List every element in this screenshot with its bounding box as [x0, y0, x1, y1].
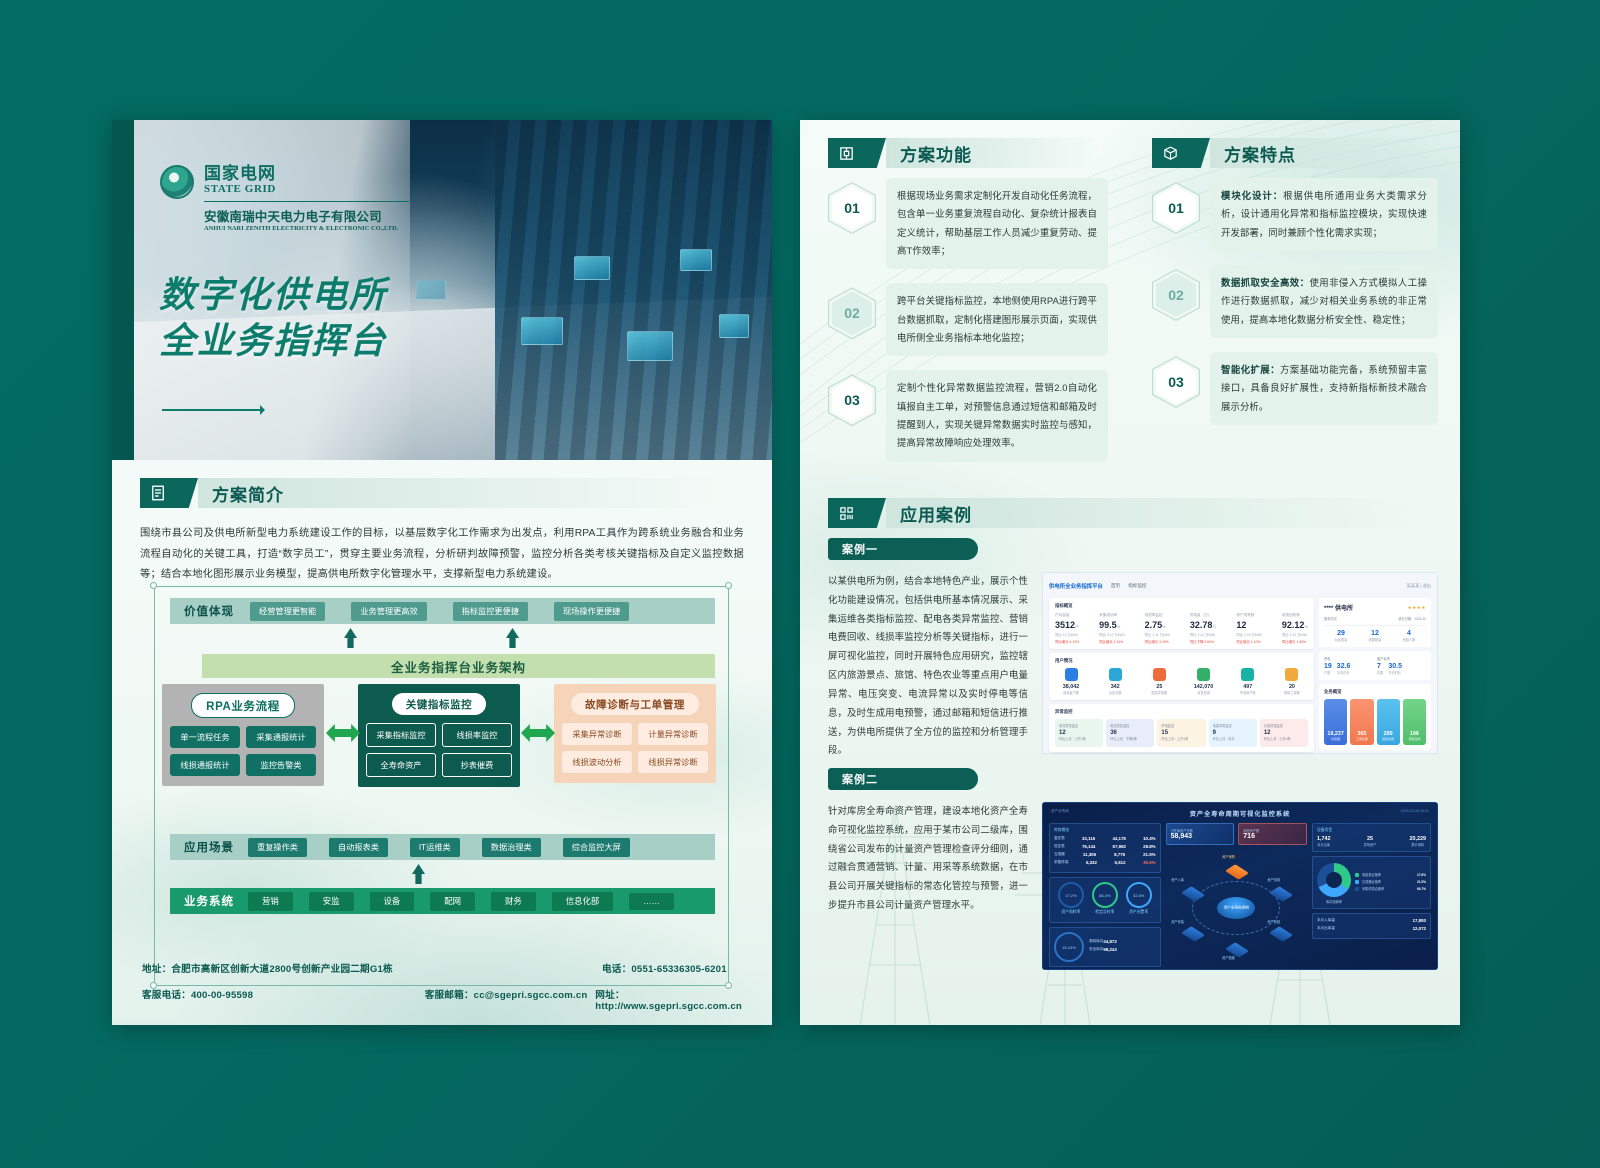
kpi-label: 户均容量: [1055, 613, 1079, 618]
dashboard-nav-item[interactable]: 首页: [1111, 583, 1120, 589]
kpi-rate: 同比增长 1.10%: [1236, 640, 1260, 644]
architecture-column-rpa: RPA业务流程 单一流程任务 采集通报统计 线损通报统计 监控告警类: [162, 684, 324, 786]
station-metric-label: 线路数量: [1369, 637, 1382, 642]
feature-item: 03 智能化扩展：方案基础功能完备，系统预留丰富接口，具备良好扩展性，支持新指标…: [1152, 352, 1438, 425]
anomaly-note: 环比上月 · 上升4条: [1264, 736, 1304, 741]
scenario-chip: 自动报表类: [329, 838, 388, 857]
case-two-screenshot: 资产全寿命 2023-10-18 09:21 资产全寿命周期可视化监控系统 库房…: [1042, 802, 1438, 970]
counter-label: 配变异常数: [1143, 690, 1175, 695]
row-b: 8,776: [1114, 852, 1125, 857]
kpi-card-title: 指标概览: [1055, 603, 1308, 609]
legend-name: 电能表合格率: [1362, 872, 1381, 877]
energy-icon: [1197, 668, 1210, 681]
kpi-cell: 采集成功率 99.5% 同比 3.12 万kWh 同比增长 2.10%: [1099, 613, 1124, 644]
row-a: 32,115: [1082, 836, 1095, 841]
donut-label: 库存准确率: [1317, 899, 1351, 904]
column-cell: 线损波动分析: [562, 751, 632, 773]
alert-icon: [1153, 668, 1166, 681]
kpi-sub: 同比 3.12 万kWh: [1099, 632, 1124, 637]
inout-value: 12,072: [1413, 926, 1426, 931]
function-text: 跨平台关键指标监控，本地侧使用RPA进行跨平台数据抓取，定制化搭建图形展示页面，…: [886, 283, 1108, 356]
page-back: 方案功能 方案特点 01 根据现: [800, 120, 1460, 1025]
footer-row-2: 客服电话：400-00-95598 客服邮箱：cc@sgepri.sgcc.co…: [142, 987, 742, 1012]
overview-bar: 19,237抄表数: [1324, 699, 1347, 745]
architecture-column-fault: 故障诊断与工单管理 采集异常诊断 计量异常诊断 线损波动分析 线损异常诊断: [554, 684, 716, 783]
inout-name: 本月出库量: [1317, 926, 1335, 931]
ticket-icon: [1285, 668, 1298, 681]
intro-section-header: 方案简介: [140, 478, 744, 508]
column-cell: 线损率监控: [442, 723, 512, 747]
address-line: 地址：合肥市高新区创新大道2800号创新产业园二期G1栋: [142, 961, 427, 975]
scenario-chip: 数据治理类: [482, 838, 541, 857]
row-c: 35.6%: [1143, 860, 1155, 865]
architecture-title: 全业务指挥台业务架构: [202, 654, 715, 678]
brand-subsidiary-cn: 安徽南瑞中天电力电子有限公司: [204, 206, 409, 225]
outage-label: 户数: [1324, 670, 1332, 675]
features-list: 01 模块化设计：根据供电所通用业务大类需求分析，设计通用化异常和指标监控模块，…: [1152, 178, 1438, 439]
dashboard-nav-item[interactable]: 指标监控: [1128, 583, 1146, 589]
kpi-cell: 线损率监控 2.75% 同比 2.11 万kWh 同比增长 3.40%: [1145, 613, 1170, 644]
brand-lockup: 国家电网 STATE GRID 安徽南瑞中天电力电子有限公司 ANHUI NAR…: [160, 165, 409, 232]
gauge-label: 资产闲置率: [1126, 910, 1152, 915]
case-two-text: 针对库房全寿命资产管理，建设本地化资产全寿命可视化监控系统，应用于某市公司二级库…: [828, 802, 1028, 970]
inout-panel: 本月入库量17,893 本月出库量12,072: [1312, 913, 1431, 939]
website-line: 网址：http://www.sgepri.sgcc.com.cn: [595, 987, 742, 1012]
row-b: 44,178: [1112, 836, 1125, 841]
center-kpi-value: 716: [1243, 833, 1302, 840]
column-cell: 单一流程任务: [170, 726, 240, 748]
counter-label: 用电客户数: [1055, 690, 1087, 695]
dashboard-supply-station: 供电所全业务指挥平台 首页 指标监控 某某某 | 退出 指标概览: [1042, 572, 1438, 754]
inout-value: 17,893: [1413, 918, 1426, 923]
case-two: 案例二 针对库房全寿命资产管理，建设本地化资产全寿命可视化监控系统，应用于某市公…: [828, 768, 1438, 970]
device-type-panel: 设备类型 1,742本月出库 25异常资产 20,229累计周转: [1312, 823, 1431, 852]
lifecycle-node-label: 资产采购: [1222, 854, 1235, 859]
dashboard2-left-column: 库房概览 高压表32,11544,17810.4% 低压表76,14467,96…: [1049, 823, 1161, 969]
anomaly-note: 环比上月 · 上升2条: [1059, 736, 1099, 741]
function-text: 定制个性化异常数据监控流程，营销2.0自动化填报自主工单，对预警信息通过短信和邮…: [886, 370, 1108, 461]
service-value: 400-00-95598: [191, 990, 253, 1001]
station-metric-value: 4: [1403, 630, 1416, 637]
site-label: 网址：: [595, 990, 624, 1001]
dashboard2-right-column: 设备类型 1,742本月出库 25异常资产 20,229累计周转: [1312, 823, 1431, 969]
meter-icon: [1241, 668, 1254, 681]
counter-cell: 20故障工单数: [1276, 668, 1308, 695]
kpi-label: 线损率监控: [1145, 613, 1170, 618]
lifecycle-node-label: 资产拆回: [1267, 919, 1280, 924]
legend-value: 17.8%: [1417, 873, 1426, 877]
gauge-item: 32.8%资产闲置率: [1126, 882, 1152, 918]
water-panel: 15.19% 周转库存44,872 安全库存98,243: [1049, 927, 1161, 967]
station-summary-card: **** 供电所 ★★★★ 基本情况 统计日期：2023-10: [1319, 598, 1431, 647]
case-one-screenshot: 供电所全业务指挥平台 首页 指标监控 某某某 | 退出 指标概览: [1042, 572, 1438, 760]
address-value: 合肥市高新区创新大道2800号创新产业园二期G1栋: [171, 964, 392, 975]
frame-dot: [725, 582, 732, 589]
intro-section: 方案简介 围绕市县公司及供电所新型电力系统建设工作的目标，以基层数字化工作需求为…: [140, 478, 744, 586]
kpi-sub: 同比 4.12 万kWh: [1236, 632, 1261, 637]
kpi-value: 92.12: [1282, 620, 1305, 630]
bars-title: 业务概览: [1324, 689, 1426, 695]
cases-heading: 应用案例: [900, 501, 972, 526]
dashboard2-center-column: 已在库资产总数 58,943 待检资产数 716: [1166, 823, 1307, 969]
lifecycle-node: [1269, 927, 1293, 943]
phone-line: 电话：0551-65336305-6201: [602, 961, 742, 975]
gauge-icon: 17.2%: [1058, 882, 1084, 908]
donut-legend-item: 电能表合格率17.8%: [1355, 872, 1426, 877]
counter-label: 台区总数: [1099, 690, 1131, 695]
station-metric: 4班组人数: [1403, 630, 1416, 642]
side-value: 44,872: [1103, 939, 1116, 944]
warehouse-row: 采集终端5,3325,61235.6%: [1054, 860, 1156, 865]
donut-chart: [1317, 863, 1351, 897]
poster-canvas: 国家电网 STATE GRID 安徽南瑞中天电力电子有限公司 ANHUI NAR…: [0, 0, 1600, 1168]
dashboard-side-panel: **** 供电所 ★★★★ 基本情况 统计日期：2023-10: [1319, 598, 1431, 756]
intro-header-slash: [176, 478, 198, 508]
kpi-label: 停户异常数: [1236, 613, 1261, 618]
phone-value: 0551-65336305-6201: [631, 964, 726, 975]
scenario-chip: 重复操作类: [248, 838, 307, 857]
kpi-sub: 同比 12 万kWh: [1055, 632, 1079, 637]
lifecycle-node-label: 资产报废: [1222, 955, 1235, 960]
row-b: 5,612: [1115, 860, 1126, 865]
counter-card-title: 用户情况: [1055, 658, 1308, 664]
intro-header-bar: 方案简介: [198, 478, 744, 508]
column-title: 故障诊断与工单管理: [571, 693, 699, 715]
kpi-cell: 电费回收率 92.12% 同比 2.12 万kWh 同比增长 1.45%: [1282, 613, 1308, 644]
brand-company-cn: 国家电网: [204, 165, 409, 183]
row-name: 互感器: [1054, 852, 1065, 857]
side-row: 安全库存98,243: [1089, 947, 1117, 952]
counter-label: 专变用户数: [1232, 690, 1264, 695]
panel-title: 库房概览: [1054, 828, 1156, 833]
column-title: RPA业务流程: [191, 693, 295, 718]
lifecycle-hub-label: 资产全寿命周期: [1224, 906, 1249, 911]
system-chip: 设备: [370, 892, 415, 911]
row-a: 11,306: [1083, 852, 1096, 857]
anomaly-title: 停电监控: [1161, 723, 1201, 728]
intro-heading: 方案简介: [212, 481, 284, 506]
column-cell: 监控告警类: [246, 754, 316, 776]
dashboard2-corner-left: 资产全寿命: [1051, 809, 1069, 814]
hero-left-accent-bar: [112, 120, 134, 460]
kpi-unit: 万: [1212, 624, 1216, 629]
overview-bar: 365工单总量: [1350, 699, 1373, 745]
inout-row: 本月入库量17,893: [1317, 918, 1426, 923]
right-kpi-label: 异常资产: [1364, 842, 1377, 847]
kpi-rate: 同比增长 4.13%: [1055, 640, 1079, 644]
address-label: 地址：: [142, 964, 171, 975]
case-one-tab: 案例一: [828, 538, 978, 560]
counter-cell: 342台区总数: [1099, 668, 1131, 695]
column-cell: 采集异常诊断: [562, 723, 632, 745]
kpi-unit: %: [1117, 624, 1121, 629]
center-kpi-value: 58,943: [1171, 833, 1230, 840]
column-cell: 计量异常诊断: [638, 723, 708, 745]
case-two-tab: 案例二: [828, 768, 978, 790]
feature-text: 模块化设计：根据供电所通用业务大类需求分析，设计通用化异常和指标监控模块，实现快…: [1210, 178, 1438, 251]
legend-swatch: [1355, 880, 1359, 884]
lifecycle-node-label: 资产入库: [1171, 877, 1184, 882]
counter-cell: 38,042用电客户数: [1055, 668, 1087, 695]
lifecycle-node-label: 资产领用: [1267, 877, 1280, 882]
side-label: 安全库存: [1089, 947, 1103, 952]
kpi-sub: 同比 2.12 万kWh: [1282, 632, 1308, 637]
feature-text: 智能化扩展：方案基础功能完备，系统预留丰富接口，具备良好扩展性，支持新指标新技术…: [1210, 352, 1438, 425]
row-b: 67,962: [1113, 844, 1126, 849]
station-metric-value: 12: [1369, 630, 1382, 637]
column-cell: 全寿命资产: [366, 753, 436, 777]
brand-subsidiary-en: ANHUI NARI ZENITH ELECTRICITY & ELECTRON…: [204, 225, 409, 232]
row-a: 76,144: [1082, 844, 1095, 849]
features-section-header: 方案特点: [1152, 138, 1438, 168]
right-kpi-label: 本月出库: [1317, 842, 1331, 847]
email-label: 客服邮箱：: [425, 990, 474, 1001]
overview-bar: 289巡检次数: [1377, 699, 1400, 745]
outage-request-card: 停电 19户数 32.6平均时长 客户诉求: [1319, 651, 1431, 680]
kpi-cell: 停户异常数 12 同比 4.12 万kWh 同比增长 1.10%: [1236, 613, 1261, 644]
right-kpi: 1,742本月出库: [1317, 836, 1331, 847]
row-name: 采集终端: [1054, 860, 1068, 865]
kpi-label: 电费回收率: [1282, 613, 1308, 618]
column-cell: 抄表催费: [442, 753, 512, 777]
features-heading: 方案特点: [1224, 141, 1296, 166]
functions-heading: 方案功能: [900, 141, 972, 166]
service-phone-line: 客服电话：400-00-95598: [142, 987, 425, 1012]
warehouse-row: 低压表76,14467,96228.8%: [1054, 844, 1156, 849]
kpi-rate: 同比增长 2.10%: [1099, 640, 1123, 644]
kpi-value: 3512: [1055, 620, 1075, 630]
row-c: 21.5%: [1143, 852, 1155, 857]
water-gauge-icon: 15.19%: [1054, 932, 1084, 962]
panel-title: 设备类型: [1317, 828, 1426, 833]
row-name: 低压表: [1054, 844, 1065, 849]
kpi-rate: 同比增长 3.40%: [1145, 640, 1169, 644]
anomaly-card: 异常监控 电流异常监控12环比上月 · 上升2条 电压突变监控36环比上月 · …: [1049, 704, 1314, 752]
legend-name: 采集终端合格率: [1362, 886, 1384, 891]
donut-legend-item: 互感器合格率21.5%: [1355, 879, 1426, 884]
overview-bar: 196消缺完成: [1403, 699, 1426, 745]
value-chip: 经营管理更智能: [250, 602, 325, 621]
value-chip: 指标监控更便捷: [453, 602, 528, 621]
center-kpi: 已在库资产总数 58,943: [1166, 823, 1235, 845]
dashboard-user-menu[interactable]: 某某某 | 退出: [1407, 583, 1431, 589]
kpi-label: 采集成功率: [1099, 613, 1124, 618]
architecture-diagram: 价值体现 经营管理更智能 业务管理更高效 指标监控更便捷 现场操作更便捷 全业务…: [140, 576, 744, 996]
kpi-cell: 户均容量 3512户 同比 12 万kWh 同比增长 4.13%: [1055, 613, 1079, 644]
transformer-icon: [1109, 668, 1122, 681]
side-value: 98,243: [1103, 947, 1116, 952]
system-band: 业务系统 营销 安监 设备 配网 财务 信息化部 ……: [170, 888, 715, 914]
row-c: 10.4%: [1143, 836, 1155, 841]
page-front: 国家电网 STATE GRID 安徽南瑞中天电力电子有限公司 ANHUI NAR…: [112, 120, 772, 1025]
warehouse-row: 高压表32,11544,17810.4%: [1054, 836, 1156, 841]
column-cell: 线损异常诊断: [638, 751, 708, 773]
dashboard-asset-lifecycle: 资产全寿命 2023-10-18 09:21 资产全寿命周期可视化监控系统 库房…: [1042, 802, 1438, 970]
legend-swatch: [1355, 887, 1359, 891]
value-chip: 现场操作更便捷: [554, 602, 629, 621]
hero-title-line2: 全业务指挥台: [159, 318, 387, 364]
kpi-unit: %: [1162, 624, 1166, 629]
footer-row-1: 地址：合肥市高新区创新大道2800号创新产业园二期G1栋 电话：0551-653…: [142, 961, 742, 975]
station-metric-value: 29: [1335, 630, 1348, 637]
hero-title-line1: 数字化供电所: [159, 272, 387, 318]
anomaly-tile: 电压突变监控36环比上月 · 下降5条: [1106, 719, 1154, 747]
kpi-cell: 供电量（万） 32.78万 同比 1.12 万kWh 同比下降 0.60%: [1190, 613, 1217, 644]
anomaly-card-title: 异常监控: [1055, 709, 1308, 715]
kpi-value: 32.78: [1190, 620, 1213, 630]
row-c: 28.8%: [1143, 844, 1155, 849]
lifecycle-node: [1225, 864, 1249, 880]
system-chip: ……: [629, 893, 674, 910]
anomaly-tile: 计量异常监控12环比上月 · 上升4条: [1260, 719, 1308, 747]
station-metric: 29台区数量: [1335, 630, 1348, 642]
request-label: 平均时长: [1388, 670, 1402, 675]
dashboard2-title: 资产全寿命周期可视化监控系统: [1049, 809, 1431, 818]
station-name: **** 供电所: [1324, 603, 1353, 612]
brand-company-en: STATE GRID: [204, 183, 409, 195]
bar-label: 抄表数: [1331, 737, 1340, 741]
service-label: 客服电话：: [142, 990, 191, 1001]
anomaly-note: 环比上月 · 持平: [1213, 736, 1253, 741]
right-kpi: 20,229累计周转: [1409, 836, 1426, 847]
counter-label: 故障工单数: [1276, 690, 1308, 695]
kpi-rate: 同比增长 1.45%: [1282, 640, 1306, 644]
document-icon: [140, 478, 176, 508]
functions-list: 01 根据现场业务需求定制化开发自动化任务流程，包含单一业务重复流程自动化、复杂…: [828, 178, 1108, 476]
feature-title: 模块化设计：: [1221, 190, 1283, 201]
request-head: 客户诉求: [1377, 656, 1426, 661]
hero-title: 数字化供电所 全业务指挥台: [159, 272, 387, 364]
counter-card: 用户情况 38,042用电客户数 342台区总数 25配变异常数 142,070…: [1049, 653, 1314, 700]
gauge-item: 88.4%检定及时率: [1092, 882, 1118, 918]
feature-text: 数据抓取安全高效：使用非侵入方式模拟人工操作进行数据抓取，减少对相关业务系统的非…: [1210, 265, 1438, 338]
rating-stars-icon: ★★★★: [1408, 605, 1426, 611]
kpi-unit: 户: [1075, 624, 1079, 629]
feature-item: 01 模块化设计：根据供电所通用业务大类需求分析，设计通用化异常和指标监控模块，…: [1152, 178, 1438, 251]
outage-value: 32.6: [1337, 663, 1351, 670]
inout-row: 本月出库量12,072: [1317, 926, 1426, 931]
station-row-label: 基本情况: [1324, 616, 1337, 621]
side-row: 周转库存44,872: [1089, 939, 1117, 944]
row-name: 高压表: [1054, 836, 1065, 841]
inout-name: 本月入库量: [1317, 918, 1335, 923]
value-band: 价值体现 经营管理更智能 业务管理更高效 指标监控更便捷 现场操作更便捷: [170, 598, 715, 624]
feature-title: 智能化扩展：: [1221, 364, 1280, 375]
legend-value: 21.5%: [1417, 880, 1426, 884]
outage-block: 停电 19户数 32.6平均时长: [1324, 656, 1373, 675]
system-chip: 配网: [430, 892, 475, 911]
station-metric-label: 台区数量: [1335, 637, 1348, 642]
kpi-sub: 同比 1.12 万kWh: [1190, 632, 1217, 637]
value-chip: 业务管理更高效: [351, 602, 426, 621]
lifecycle-node-label: 资产安装: [1171, 919, 1184, 924]
bar-label: 工单总量: [1356, 737, 1368, 741]
case-one: 案例一 以某供电所为例，结合本地特色产业，展示个性化功能建设情况，包括供电所基本…: [828, 538, 1438, 760]
function-item: 01 根据现场业务需求定制化开发自动化任务流程，包含单一业务重复流程自动化、复杂…: [828, 178, 1108, 269]
front-footer: 地址：合肥市高新区创新大道2800号创新产业园二期G1栋 电话：0551-653…: [112, 947, 772, 1025]
user-icon: [1065, 668, 1078, 681]
counter-cell: 25配变异常数: [1143, 668, 1175, 695]
counter-cell: 142,070月售电量: [1188, 668, 1220, 695]
kpi-rate: 同比下降 0.60%: [1190, 640, 1214, 644]
side-label: 周转库存: [1089, 939, 1103, 944]
anomaly-title: 电量异常监控: [1213, 723, 1253, 728]
gauges-panel: 17.2%资产周转率 88.4%检定及时率 32.8%资产闲置率: [1049, 877, 1161, 923]
feature-title: 数据抓取安全高效：: [1221, 277, 1309, 288]
anomaly-tile: 电量异常监控9环比上月 · 持平: [1209, 719, 1257, 747]
cube-check-icon: [1152, 138, 1188, 168]
counter-label: 月售电量: [1188, 690, 1220, 695]
cases-section-header: 应用案例: [828, 498, 1438, 528]
qrcode-icon: [828, 498, 864, 528]
system-chip: 营销: [248, 892, 293, 911]
gauge-item: 17.2%资产周转率: [1058, 882, 1084, 918]
anomaly-title: 计量异常监控: [1264, 723, 1304, 728]
anomaly-title: 电流异常监控: [1059, 723, 1099, 728]
architecture-column-kpi: 关键指标监控 采集指标监控 线损率监控 全寿命资产 抄表催费: [358, 684, 520, 787]
row-a: 5,332: [1086, 860, 1097, 865]
anomaly-tile: 停电监控15环比上月 · 上升1条: [1157, 719, 1205, 747]
state-grid-logo-icon: [160, 165, 194, 199]
warehouse-overview-panel: 库房概览 高压表32,11544,17810.4% 低压表76,14467,96…: [1049, 823, 1161, 873]
phone-label: 电话：: [602, 964, 631, 975]
gauge-label: 检定及时率: [1092, 910, 1118, 915]
function-item: 03 定制个性化异常数据监控流程，营销2.0自动化填报自主工单，对预警信息通过短…: [828, 370, 1108, 461]
legend-value: 60.7%: [1417, 887, 1426, 891]
right-kpi: 25异常资产: [1364, 836, 1377, 847]
scenario-band: 应用场景 重复操作类 自动报表类 IT运维类 数据治理类 综合监控大屏: [170, 834, 715, 860]
dashboard-topbar: 供电所全业务指挥平台 首页 指标监控 某某某 | 退出: [1049, 579, 1431, 593]
site-value[interactable]: http://www.sgepri.sgcc.com.cn: [595, 1001, 742, 1012]
counter-cell: 497专变用户数: [1232, 668, 1264, 695]
kpi-card: 指标概览 户均容量 3512户 同比 12 万kWh 同比增长 4.13%: [1049, 598, 1314, 649]
system-band-label: 业务系统: [184, 893, 234, 909]
email-value[interactable]: cc@sgepri.sgcc.com.cn: [474, 990, 588, 1001]
frame-dot: [150, 582, 157, 589]
kpi-value: 12: [1236, 620, 1246, 630]
functions-section-header: 方案功能: [828, 138, 1108, 168]
hero-banner: 国家电网 STATE GRID 安徽南瑞中天电力电子有限公司 ANHUI NAR…: [112, 120, 772, 460]
function-text: 根据现场业务需求定制化开发自动化任务流程，包含单一业务重复流程自动化、复杂统计报…: [886, 178, 1108, 269]
bar-label: 消缺完成: [1408, 737, 1420, 741]
outage-value: 19: [1324, 663, 1332, 670]
system-chip: 信息化部: [552, 892, 614, 911]
dashboard-logo: 供电所全业务指挥平台: [1049, 582, 1103, 590]
bar-label: 巡检次数: [1382, 737, 1394, 741]
system-chip: 财务: [491, 892, 536, 911]
kpi-label: 供电量（万）: [1190, 613, 1217, 618]
scenario-band-label: 应用场景: [184, 839, 234, 855]
kpi-unit: %: [1304, 624, 1308, 629]
anomaly-note: 环比上月 · 下降5条: [1110, 736, 1150, 741]
function-box-icon: [828, 138, 864, 168]
column-title: 关键指标监控: [392, 693, 487, 715]
scenario-chip: IT运维类: [410, 838, 460, 857]
donut-legend-item: 采集终端合格率60.7%: [1355, 886, 1426, 891]
qualification-donut-panel: 库存准确率 电能表合格率17.8% 互感器合格率21.5% 采集终端合格率60.…: [1312, 856, 1431, 909]
center-kpi: 待检资产数 716: [1238, 823, 1307, 845]
system-chip: 安监: [309, 892, 354, 911]
station-metric-label: 班组人数: [1403, 637, 1416, 642]
outage-label: 平均时长: [1337, 670, 1351, 675]
column-cell: 线损通报统计: [170, 754, 240, 776]
request-value: 30.5: [1388, 663, 1402, 670]
anomaly-note: 环比上月 · 上升1条: [1161, 736, 1201, 741]
arrow-right-icon: [162, 404, 277, 416]
brand-divider: [204, 201, 409, 202]
email-line: 客服邮箱：cc@sgepri.sgcc.com.cn: [425, 987, 596, 1012]
dashboard2-corner-right: 2023-10-18 09:21: [1401, 809, 1429, 813]
